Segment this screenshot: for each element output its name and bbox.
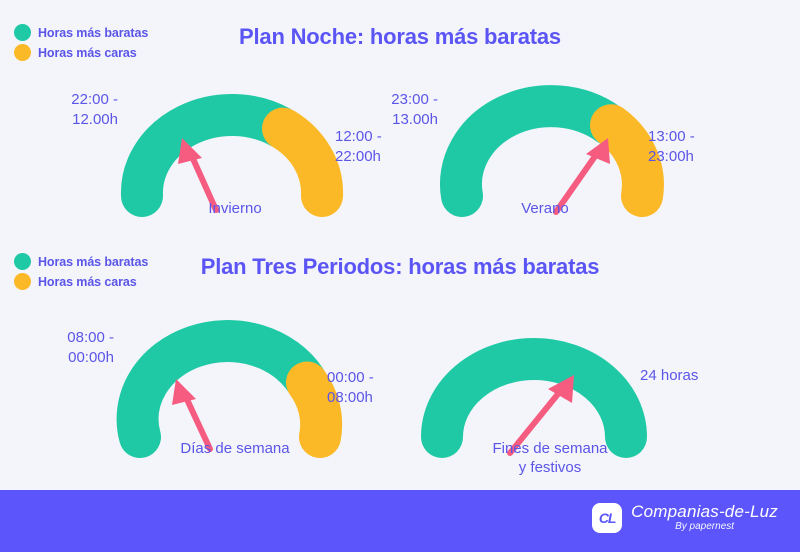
section-title-plan-noche: Plan Noche: horas más baratas [200,23,600,51]
legend-label-cheap: Horas más baratas [38,26,148,40]
legend-row-cheap-2: Horas más baratas [14,253,148,270]
legend-row-cheap: Horas más baratas [14,24,148,41]
gauge-dias-caption: Días de semana [155,440,315,459]
gauge-invierno-right-label: 12:00 - 22:00h [335,127,425,168]
gauge-dias-de-semana [110,337,350,449]
infographic-page: Horas más baratas Horas más caras Plan N… [0,0,800,552]
brand-logo[interactable]: CL Companias-de-Luz By papernest [592,503,778,533]
legend-dot-expensive-icon-2 [14,273,31,290]
legend-plan-noche: Horas más baratas Horas más caras [14,24,148,61]
brand-name: Companias-de-Luz [631,503,778,521]
brand-text: Companias-de-Luz By papernest [631,503,778,532]
gauge-verano-cheap-arc [461,106,609,196]
legend-label-expensive: Horas más caras [38,46,137,60]
legend-plan-tres-periodos: Horas más baratas Horas más caras [14,253,148,290]
gauge-invierno-left-label: 22:00 - 12.00h [40,90,118,131]
gauge-fines-caption: Fines de semana y festivos [465,440,635,478]
gauge-verano-caption: Verano [470,200,620,219]
gauge-verano-right-label: 13:00 - 23:00h [648,127,743,168]
legend-dot-expensive-icon [14,44,31,61]
gauge-verano-left-label: 23:00 - 13.00h [360,90,438,131]
legend-label-cheap-2: Horas más baratas [38,255,148,269]
gauge-invierno-cheap-arc [142,115,281,196]
gauge-dias-pointer-icon [172,379,210,449]
gauge-fines-right-label: 24 horas [640,366,760,386]
legend-row-expensive: Horas más caras [14,44,148,61]
gauge-invierno [112,96,352,208]
legend-dot-cheap-icon-2 [14,253,31,270]
gauge-invierno-expensive-arc [283,129,322,196]
gauge-verano-expensive-arc [611,125,643,196]
gauge-dias-right-label: 00:00 - 08:00h [327,368,422,409]
brand-mark-icon: CL [592,503,622,533]
section-title-plan-tres-periodos: Plan Tres Periodos: horas más baratas [200,253,600,281]
gauge-invierno-caption: Invierno [160,200,310,219]
brand-sub: By papernest [631,522,778,533]
legend-label-expensive-2: Horas más caras [38,275,137,289]
gauge-dias-left-label: 08:00 - 00:00h [32,328,114,369]
gauge-verano [432,96,672,208]
gauge-dias-cheap-arc [138,341,306,437]
footer-bar: CL Companias-de-Luz By papernest [0,490,800,552]
legend-row-expensive-2: Horas más caras [14,273,148,290]
gauge-fines-de-semana [412,337,672,449]
gauge-dias-expensive-arc [307,383,321,438]
legend-dot-cheap-icon [14,24,31,41]
